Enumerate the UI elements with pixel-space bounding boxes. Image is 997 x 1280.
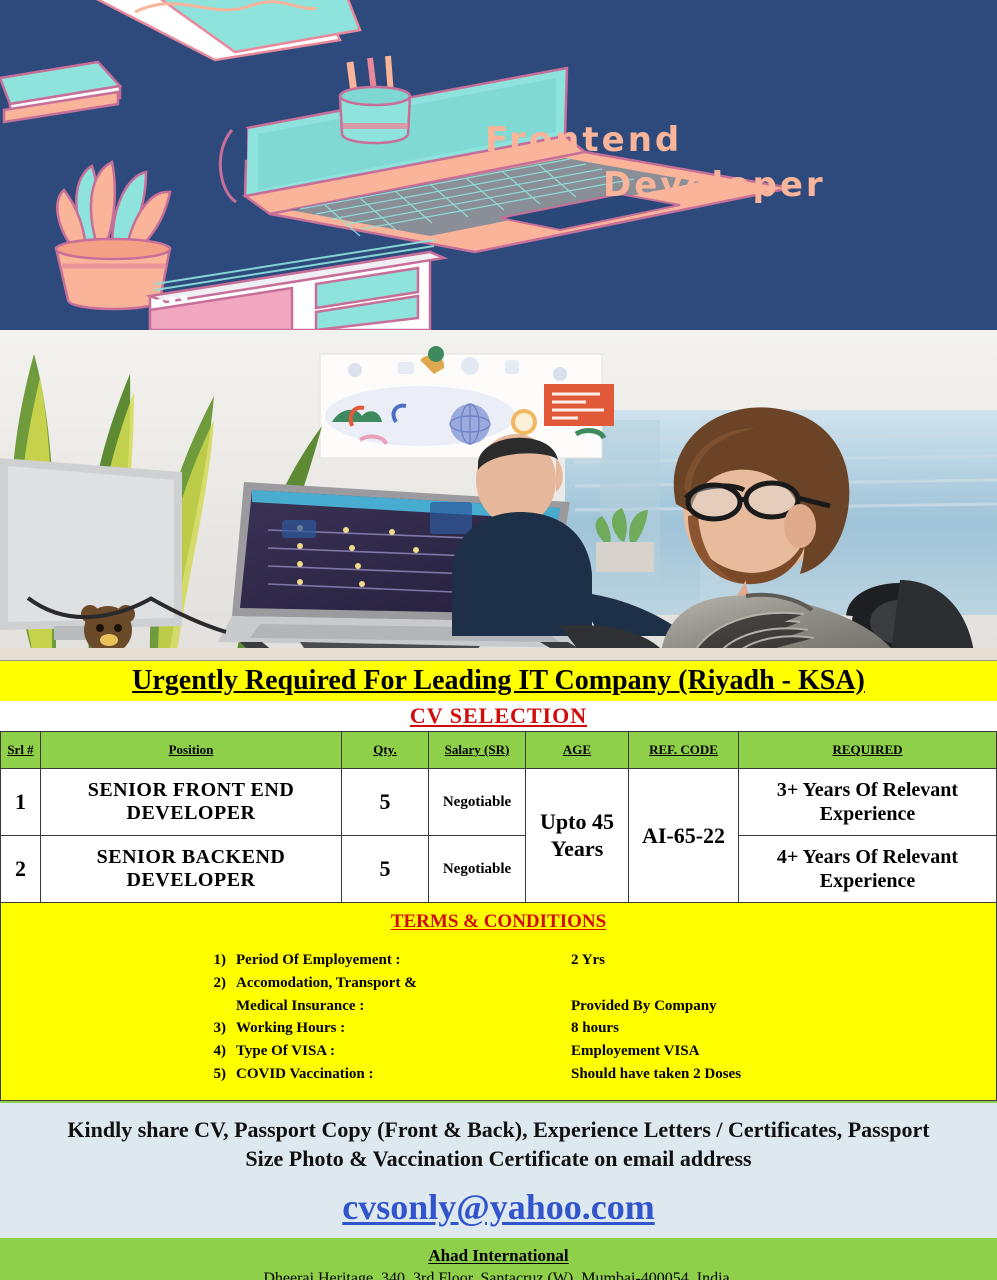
office-scene-graphic bbox=[0, 330, 997, 660]
terms-item-value: Provided By Company bbox=[571, 995, 996, 1018]
terms-item: 2) Accomodation, Transport & bbox=[1, 972, 996, 995]
cell-required: 3+ Years Of Relevant Experience bbox=[739, 769, 997, 836]
col-header-position: Position bbox=[41, 732, 342, 769]
terms-item-label: Period Of Employement : bbox=[236, 949, 571, 972]
terms-item-number: 4) bbox=[1, 1040, 236, 1063]
vacancy-table: Srl # Position Qty. Salary (SR) AGE REF.… bbox=[0, 731, 997, 903]
headline-bar: Urgently Required For Leading IT Company… bbox=[0, 660, 997, 701]
cell-salary: Negotiable bbox=[429, 769, 526, 836]
terms-item-label: Accomodation, Transport & bbox=[236, 972, 571, 995]
terms-item-number: 3) bbox=[1, 1017, 236, 1040]
col-header-age: AGE bbox=[526, 732, 629, 769]
cell-age: Upto 45 Years bbox=[526, 769, 629, 903]
banner-title-line2: Developer bbox=[485, 163, 945, 208]
cv-selection-bar: CV SELECTION bbox=[0, 701, 997, 731]
cell-ref-code: AI-65-22 bbox=[629, 769, 739, 903]
terms-item: Medical Insurance : Provided By Company bbox=[1, 995, 996, 1018]
agency-footer: Ahad International Dheeraj Heritage, 340… bbox=[0, 1240, 997, 1280]
agency-address: Dheeraj Heritage, 340, 3rd Floor, Santac… bbox=[0, 1270, 997, 1280]
cell-qty: 5 bbox=[342, 836, 429, 903]
terms-item: 5) COVID Vaccination : Should have taken… bbox=[1, 1063, 996, 1086]
terms-item: 3) Working Hours : 8 hours bbox=[1, 1017, 996, 1040]
headline-text: Urgently Required For Leading IT Company… bbox=[132, 665, 865, 697]
frontend-developer-banner: Frontend Developer bbox=[0, 0, 997, 330]
col-header-qty: Qty. bbox=[342, 732, 429, 769]
col-header-salary: Salary (SR) bbox=[429, 732, 526, 769]
contact-line-2: Size Photo & Vaccination Certificate on … bbox=[0, 1144, 997, 1174]
col-header-ref-code: REF. CODE bbox=[629, 732, 739, 769]
contact-line-1: Kindly share CV, Passport Copy (Front & … bbox=[0, 1115, 997, 1145]
terms-item-number: 2) bbox=[1, 972, 236, 995]
cell-position: SENIOR FRONT END DEVELOPER bbox=[41, 769, 342, 836]
terms-item-label: COVID Vaccination : bbox=[236, 1063, 571, 1086]
terms-item-number: 1) bbox=[1, 949, 236, 972]
cell-salary: Negotiable bbox=[429, 836, 526, 903]
cv-selection-text: CV SELECTION bbox=[410, 703, 587, 729]
terms-item-number bbox=[1, 995, 236, 1018]
terms-item-label: Type Of VISA : bbox=[236, 1040, 571, 1063]
job-advertisement-poster: Frontend Developer bbox=[0, 0, 997, 1280]
terms-item-value: 8 hours bbox=[571, 1017, 996, 1040]
terms-item-value: 2 Yrs bbox=[571, 949, 996, 972]
terms-item-value bbox=[571, 972, 996, 995]
cell-srl: 2 bbox=[1, 836, 41, 903]
col-header-required: REQUIRED bbox=[739, 732, 997, 769]
banner-title-line1: Frontend bbox=[485, 120, 682, 160]
terms-item: 1) Period Of Employement : 2 Yrs bbox=[1, 949, 996, 972]
cell-position: SENIOR BACKEND DEVELOPER bbox=[41, 836, 342, 903]
terms-item-label: Medical Insurance : bbox=[236, 995, 571, 1018]
cell-required: 4+ Years Of Relevant Experience bbox=[739, 836, 997, 903]
office-developers-photo: BACK END DEVELOPER bbox=[0, 330, 997, 660]
cell-srl: 1 bbox=[1, 769, 41, 836]
terms-item-value: Employement VISA bbox=[571, 1040, 996, 1063]
table-row: 1 SENIOR FRONT END DEVELOPER 5 Negotiabl… bbox=[1, 769, 997, 836]
col-header-srl: Srl # bbox=[1, 732, 41, 769]
agency-name: Ahad International bbox=[0, 1246, 997, 1266]
contact-instructions-section: Kindly share CV, Passport Copy (Front & … bbox=[0, 1101, 997, 1240]
terms-item-number: 5) bbox=[1, 1063, 236, 1086]
table-row: 2 SENIOR BACKEND DEVELOPER 5 Negotiable … bbox=[1, 836, 997, 903]
banner-title: Frontend Developer bbox=[485, 118, 945, 208]
terms-item-value: Should have taken 2 Doses bbox=[571, 1063, 996, 1086]
email-link[interactable]: cvsonly@yahoo.com bbox=[342, 1186, 655, 1228]
cell-qty: 5 bbox=[342, 769, 429, 836]
terms-title: TERMS & CONDITIONS bbox=[1, 911, 996, 933]
table-header-row: Srl # Position Qty. Salary (SR) AGE REF.… bbox=[1, 732, 997, 769]
terms-and-conditions-section: TERMS & CONDITIONS 1) Period Of Employem… bbox=[0, 903, 997, 1101]
terms-item-label: Working Hours : bbox=[236, 1017, 571, 1040]
terms-list: 1) Period Of Employement : 2 Yrs 2) Acco… bbox=[1, 949, 996, 1086]
terms-item: 4) Type Of VISA : Employement VISA bbox=[1, 1040, 996, 1063]
